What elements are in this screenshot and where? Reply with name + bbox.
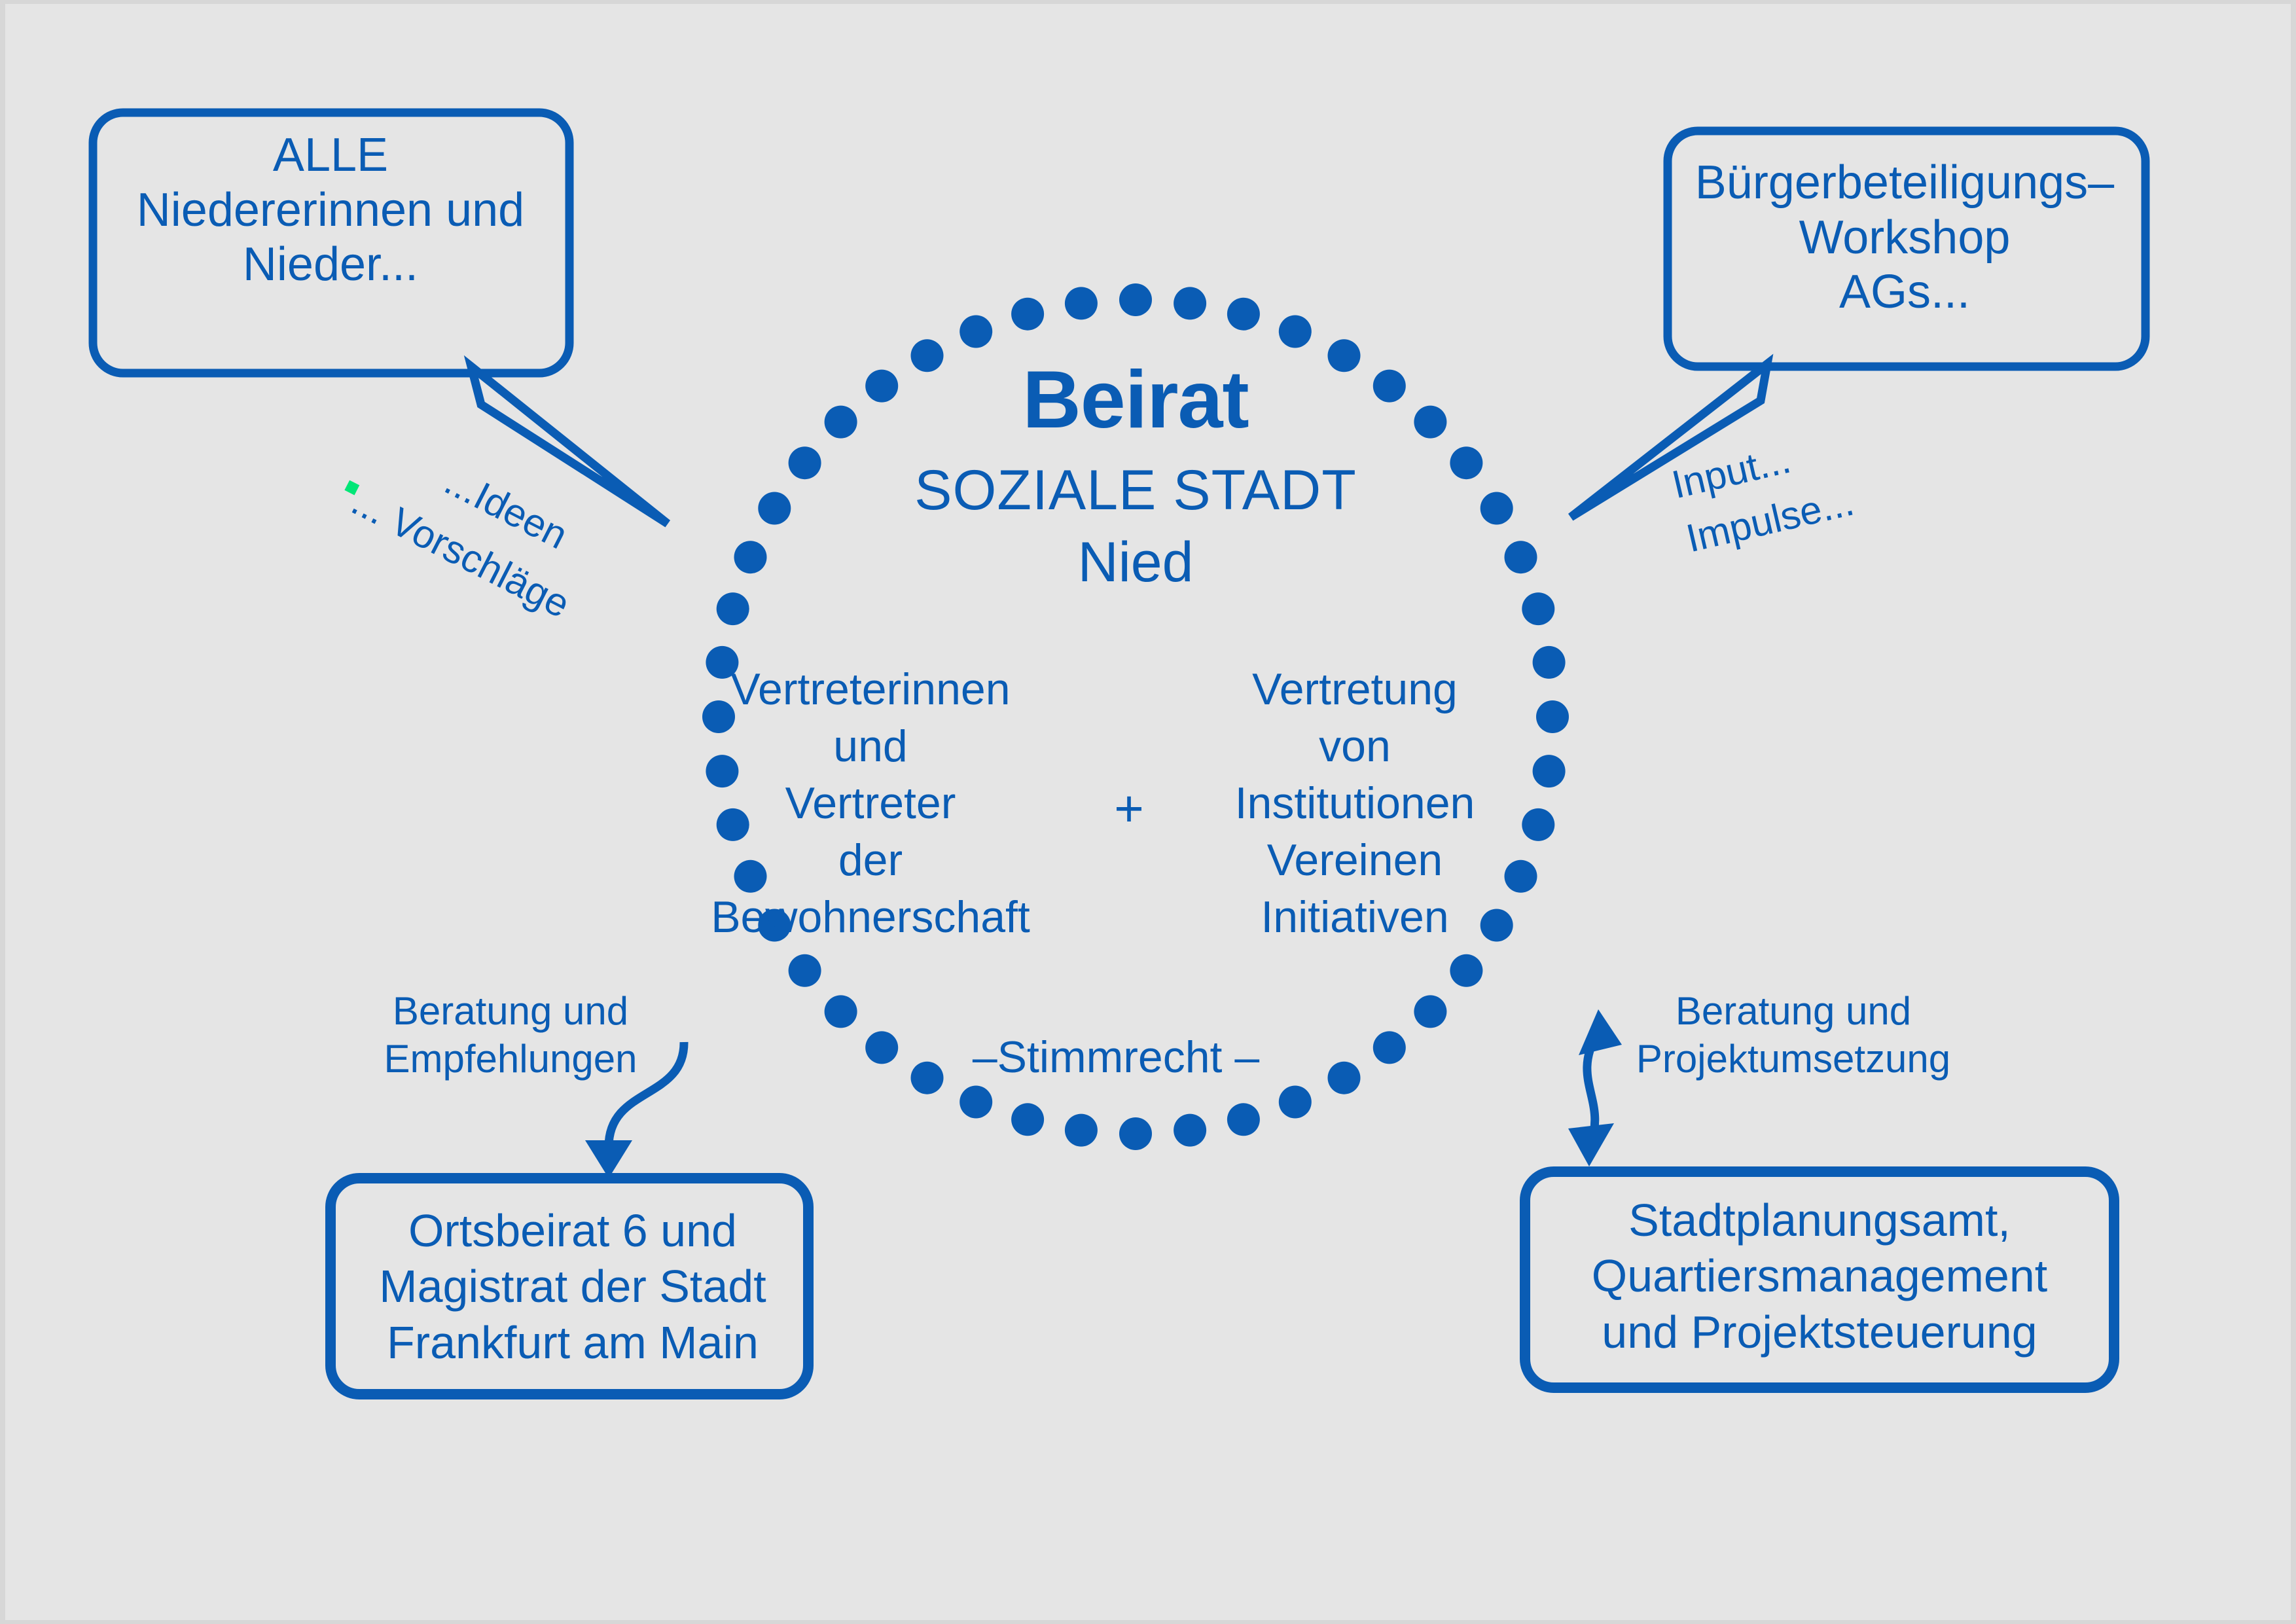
arrow-caption-left: Beratung undEmpfehlungen bbox=[340, 987, 681, 1083]
center-column-right: VertretungvonInstitutionenVereinenInitia… bbox=[1198, 661, 1512, 946]
diagram-canvas: ALLENiedererinnen undNieder... Bürgerbet… bbox=[0, 0, 2296, 1624]
center-footer-note: –Stimmrecht – bbox=[939, 1032, 1293, 1083]
center-subtitle-line1: SOZIALE STADT bbox=[743, 458, 1528, 523]
center-subtitle-line2: Nied bbox=[743, 530, 1528, 595]
bubble-right-tail bbox=[1571, 364, 1767, 517]
arrow-left-head bbox=[585, 1140, 632, 1178]
page-title: Beirat bbox=[743, 353, 1528, 446]
bubble-right-label: Bürgerbeteiligungs–WorkshopAGs... bbox=[1676, 156, 2134, 320]
arrow-caption-right: Beratung undProjektumsetzung bbox=[1623, 987, 1964, 1083]
arrow-right-head-down bbox=[1568, 1123, 1614, 1166]
center-column-left: VertreterinnenundVertreterderBewohnersch… bbox=[694, 661, 1047, 946]
box-left-label: Ortsbeirat 6 undMagistrat der StadtFrank… bbox=[334, 1203, 812, 1371]
arrow-right-head-up bbox=[1579, 1009, 1622, 1055]
plus-operator: + bbox=[1077, 779, 1181, 839]
box-right-label: Stadtplanungsamt,Quartiersmanagementund … bbox=[1525, 1193, 2114, 1360]
bubble-left-label: ALLENiedererinnen undNieder... bbox=[98, 128, 563, 293]
